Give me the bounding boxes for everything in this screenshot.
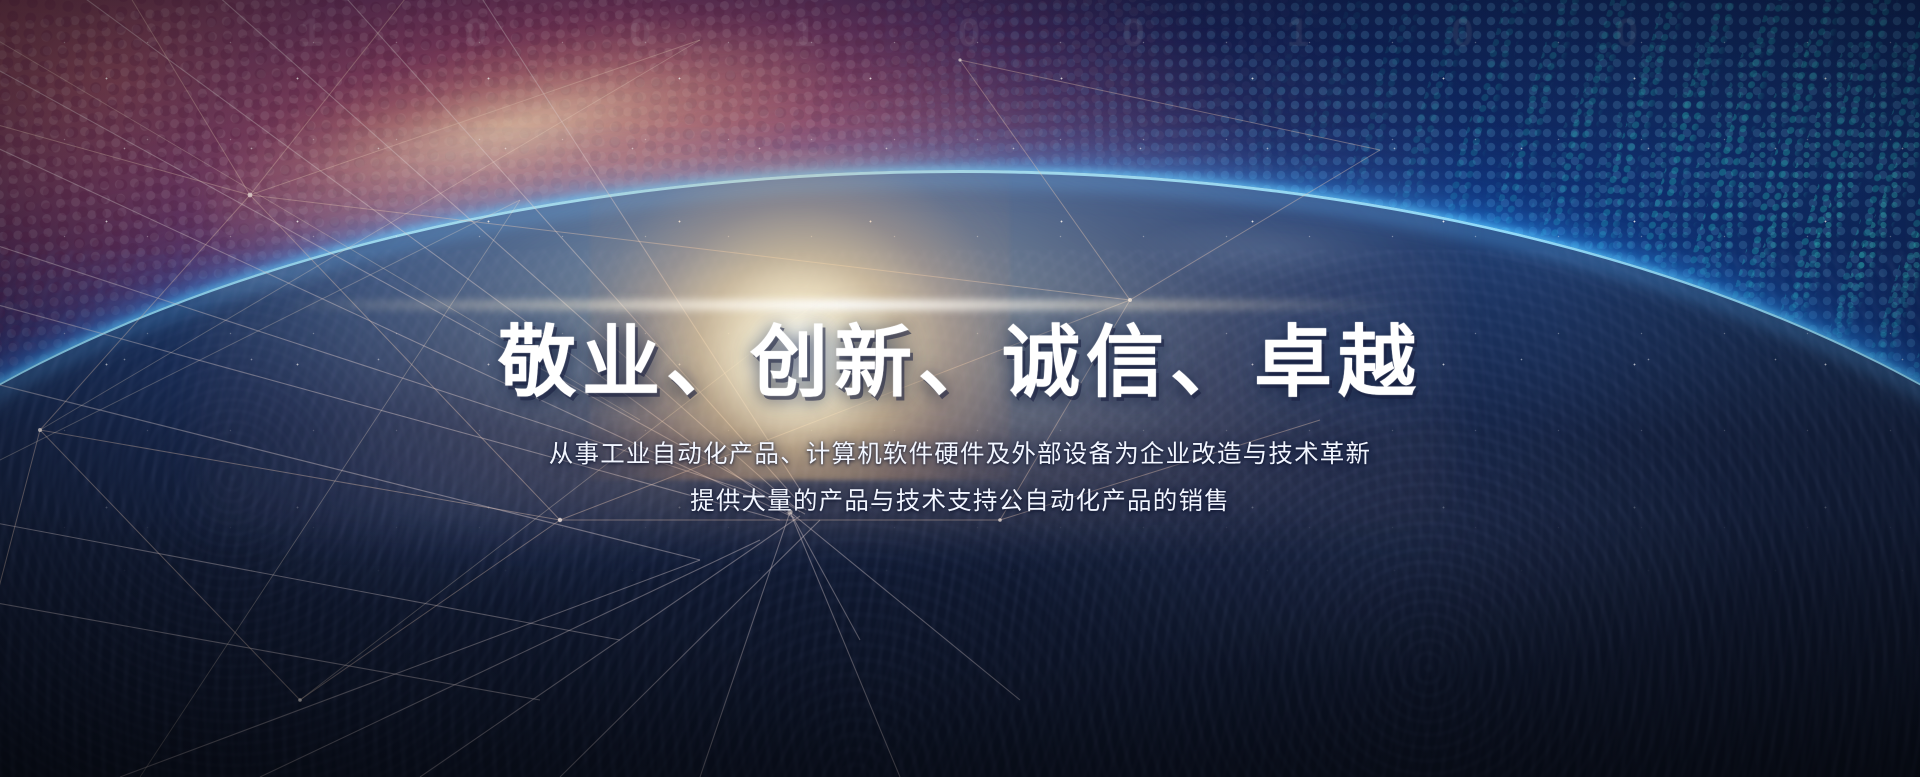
hero-subtitle-line-1: 从事工业自动化产品、计算机软件硬件及外部设备为企业改造与技术革新 bbox=[0, 432, 1920, 479]
hero-copy-block: 敬业、创新、诚信、卓越 从事工业自动化产品、计算机软件硬件及外部设备为企业改造与… bbox=[0, 320, 1920, 525]
hero-banner: 1 0 0 1 0 0 1 0 0 敬业、创新、诚信、卓越 从事工业自动化产品、… bbox=[0, 0, 1920, 777]
hero-headline: 敬业、创新、诚信、卓越 bbox=[0, 320, 1920, 404]
hero-subtitle-block: 从事工业自动化产品、计算机软件硬件及外部设备为企业改造与技术革新 提供大量的产品… bbox=[0, 432, 1920, 525]
sun-horizontal-flare bbox=[280, 300, 1400, 310]
hero-subtitle-line-2: 提供大量的产品与技术支持公自动化产品的销售 bbox=[0, 479, 1920, 526]
